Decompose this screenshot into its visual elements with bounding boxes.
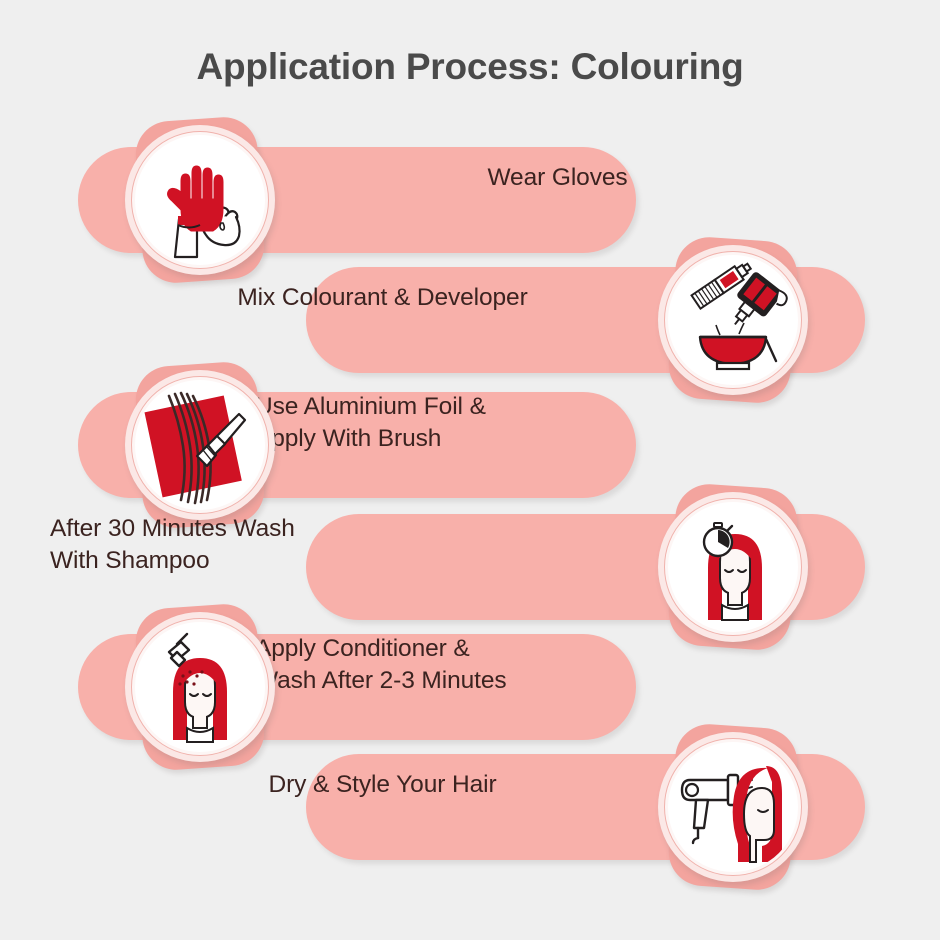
infographic-canvas: Application Process: Colouring Wear Glov…	[0, 0, 940, 940]
step-badge-6[interactable]	[658, 732, 808, 882]
step-label-3: Use Aluminium Foil & Apply With Brush	[255, 370, 486, 476]
foil-and-brush-icon	[135, 380, 265, 510]
hair-dryer-icon	[668, 742, 798, 872]
step-row-6[interactable]: Dry & Style Your Hair	[0, 732, 940, 882]
step-label-5: Apply Conditioner & Wash After 2-3 Minut…	[255, 612, 507, 718]
mixing-bowl-tube-icon	[668, 255, 798, 385]
step-label-4: After 30 Minutes Wash With Shampoo	[50, 492, 295, 598]
page-title: Application Process: Colouring	[0, 46, 940, 88]
